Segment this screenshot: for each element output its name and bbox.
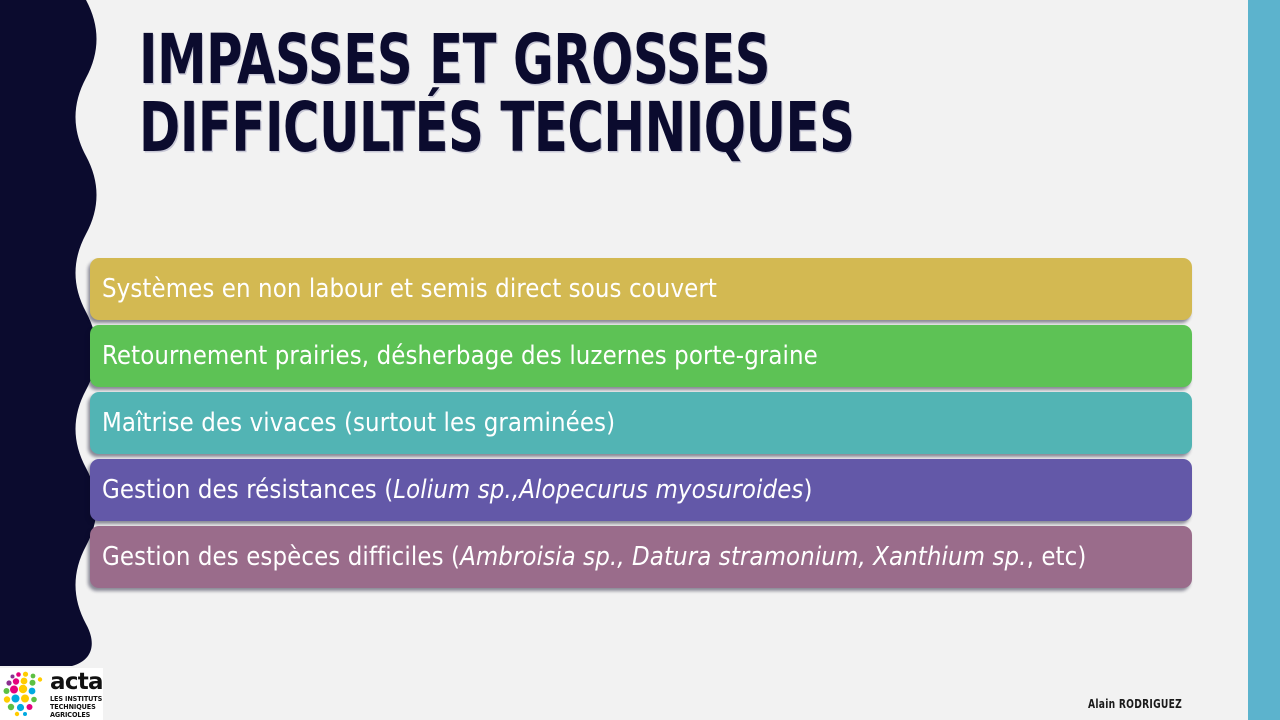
bar-label: Retournement prairies, désherbage des lu… — [102, 343, 818, 370]
list-item[interactable]: Retournement prairies, désherbage des lu… — [90, 325, 1192, 387]
bar-label: Maîtrise des vivaces (surtout les gramin… — [102, 410, 615, 437]
acta-logo-subtitle-line-3: AGRICOLES — [50, 711, 104, 719]
acta-logo-dots-icon — [2, 670, 52, 718]
list-item[interactable]: Systèmes en non labour et semis direct s… — [90, 258, 1192, 320]
acta-logo-subtitle: LES INSTITUTS TECHNIQUES AGRICOLES — [50, 695, 104, 718]
author-credit: Alain RODRIGUEZ — [1054, 697, 1216, 711]
bar-label: Systèmes en non labour et semis direct s… — [102, 276, 717, 303]
acta-logo-wordmark: acta — [50, 671, 103, 694]
slide-canvas: Impasses et grosses difficultés techniqu… — [0, 0, 1280, 720]
list-item[interactable]: Gestion des espèces difficiles (Ambroisi… — [90, 526, 1192, 588]
bar-list: Systèmes en non labour et semis direct s… — [90, 258, 1192, 593]
dots-group — [4, 672, 43, 717]
bar-label: Gestion des espèces difficiles (Ambroisi… — [102, 544, 1086, 571]
wave-shape-path — [0, 0, 97, 666]
list-item[interactable]: Maîtrise des vivaces (surtout les gramin… — [90, 392, 1192, 454]
right-accent-band — [1248, 0, 1280, 720]
bar-label: Gestion des résistances (Lolium sp.,Alop… — [102, 477, 813, 504]
page-title: Impasses et grosses difficultés techniqu… — [139, 26, 971, 163]
list-item[interactable]: Gestion des résistances (Lolium sp.,Alop… — [90, 459, 1192, 521]
acta-logo: acta LES INSTITUTS TECHNIQUES AGRICOLES — [0, 668, 103, 720]
